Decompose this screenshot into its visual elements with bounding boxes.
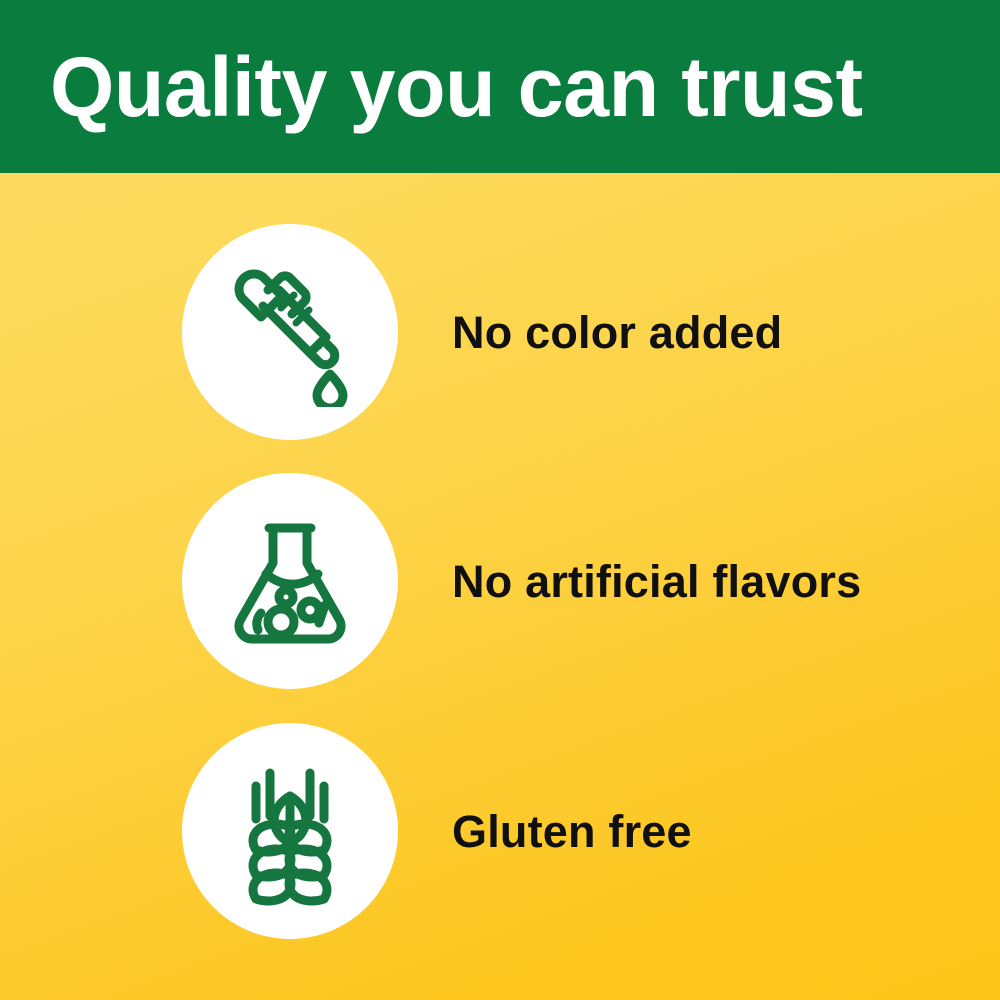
feature-list: No color added [0,173,1000,1000]
feature-label: No color added [452,224,782,440]
feature-item-no-artificial-flavors: No artificial flavors [0,473,1000,689]
flask-icon [215,506,365,656]
header-band: Quality you can trust [0,0,1000,173]
quality-banner: Quality you can trust [0,0,1000,1000]
dropper-icon [215,257,365,407]
wheat-icon [215,756,365,906]
icon-badge [182,473,398,689]
feature-label: No artificial flavors [452,473,861,689]
feature-item-gluten-free: Gluten free [0,723,1000,939]
feature-label: Gluten free [452,723,692,939]
icon-badge [182,224,398,440]
page-title: Quality you can trust [50,0,946,173]
icon-badge [182,723,398,939]
feature-item-no-color-added: No color added [0,224,1000,440]
